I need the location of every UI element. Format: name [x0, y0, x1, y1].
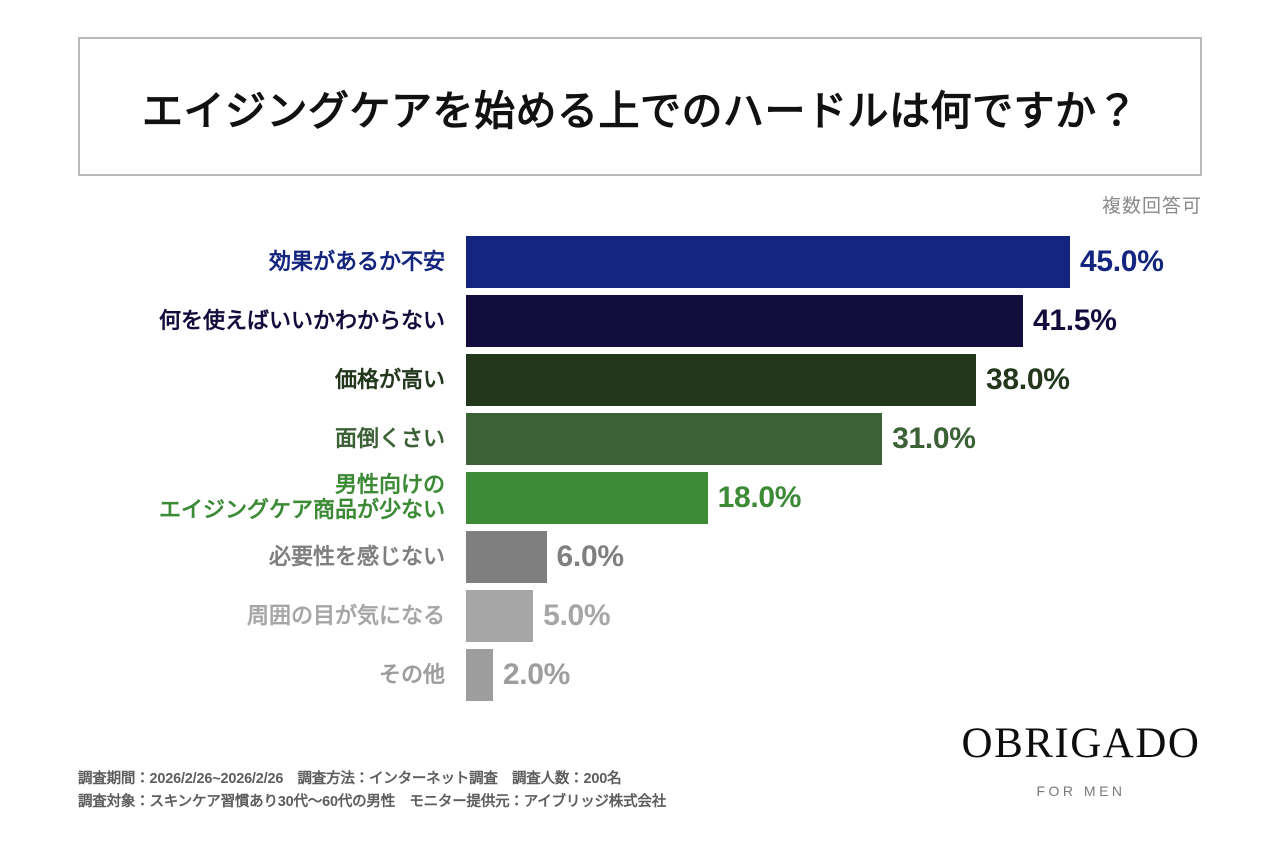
brand-logo: OBRIGADO FOR MEN: [956, 722, 1206, 799]
survey-metadata-line-1: 調査期間：2026/2/26~2026/2/26 調査方法：インターネット調査 …: [78, 771, 621, 787]
bar-group: 41.5%: [466, 295, 1117, 347]
bar-chart: 効果があるか不安45.0%何を使えばいいかわからない41.5%価格が高い38.0…: [0, 236, 1280, 708]
bar: [466, 472, 708, 524]
bar: [466, 413, 882, 465]
bar-value-label: 38.0%: [986, 363, 1070, 397]
chart-row: 面倒くさい31.0%: [0, 413, 1280, 465]
bar-group: 6.0%: [466, 531, 624, 583]
survey-metadata: 調査期間：2026/2/26~2026/2/26 調査方法：インターネット調査 …: [78, 768, 666, 815]
bar: [466, 649, 493, 701]
chart-row: 周囲の目が気になる5.0%: [0, 590, 1280, 642]
bar-value-label: 5.0%: [543, 599, 610, 633]
bar-value-label: 41.5%: [1033, 304, 1117, 338]
category-label: 効果があるか不安: [0, 250, 445, 275]
survey-metadata-line-2: 調査対象：スキンケア習慣あり30代～60代の男性 モニター提供元：アイブリッジ株…: [78, 794, 666, 810]
chart-row: その他2.0%: [0, 649, 1280, 701]
brand-name: OBRIGADO: [956, 722, 1206, 765]
bar: [466, 295, 1023, 347]
category-label: 男性向けの エイジングケア商品が少ない: [0, 473, 445, 522]
category-label: 必要性を感じない: [0, 545, 445, 570]
title-box: エイジングケアを始める上でのハードルは何ですか？: [78, 37, 1202, 176]
bar-value-label: 31.0%: [892, 422, 976, 456]
category-label: 周囲の目が気になる: [0, 604, 445, 629]
bar-group: 45.0%: [466, 236, 1164, 288]
bar: [466, 354, 976, 406]
bar-value-label: 2.0%: [503, 658, 570, 692]
bar-group: 5.0%: [466, 590, 610, 642]
category-label: 価格が高い: [0, 368, 445, 393]
bar-value-label: 18.0%: [718, 481, 802, 515]
multiple-answer-note: 複数回答可: [1102, 191, 1202, 218]
brand-tagline: FOR MEN: [956, 783, 1206, 799]
chart-row: 何を使えばいいかわからない41.5%: [0, 295, 1280, 347]
category-label: 面倒くさい: [0, 427, 445, 452]
chart-row: 必要性を感じない6.0%: [0, 531, 1280, 583]
bar-value-label: 6.0%: [557, 540, 624, 574]
bar-group: 31.0%: [466, 413, 976, 465]
bar-value-label: 45.0%: [1080, 245, 1164, 279]
chart-row: 価格が高い38.0%: [0, 354, 1280, 406]
bar-group: 38.0%: [466, 354, 1070, 406]
page-title: エイジングケアを始める上でのハードルは何ですか？: [142, 77, 1138, 137]
bar-group: 2.0%: [466, 649, 570, 701]
category-label: その他: [0, 663, 445, 688]
bar: [466, 531, 547, 583]
chart-row: 男性向けの エイジングケア商品が少ない18.0%: [0, 472, 1280, 524]
bar-group: 18.0%: [466, 472, 801, 524]
bar: [466, 590, 533, 642]
bar: [466, 236, 1070, 288]
category-label: 何を使えばいいかわからない: [0, 309, 445, 334]
chart-row: 効果があるか不安45.0%: [0, 236, 1280, 288]
